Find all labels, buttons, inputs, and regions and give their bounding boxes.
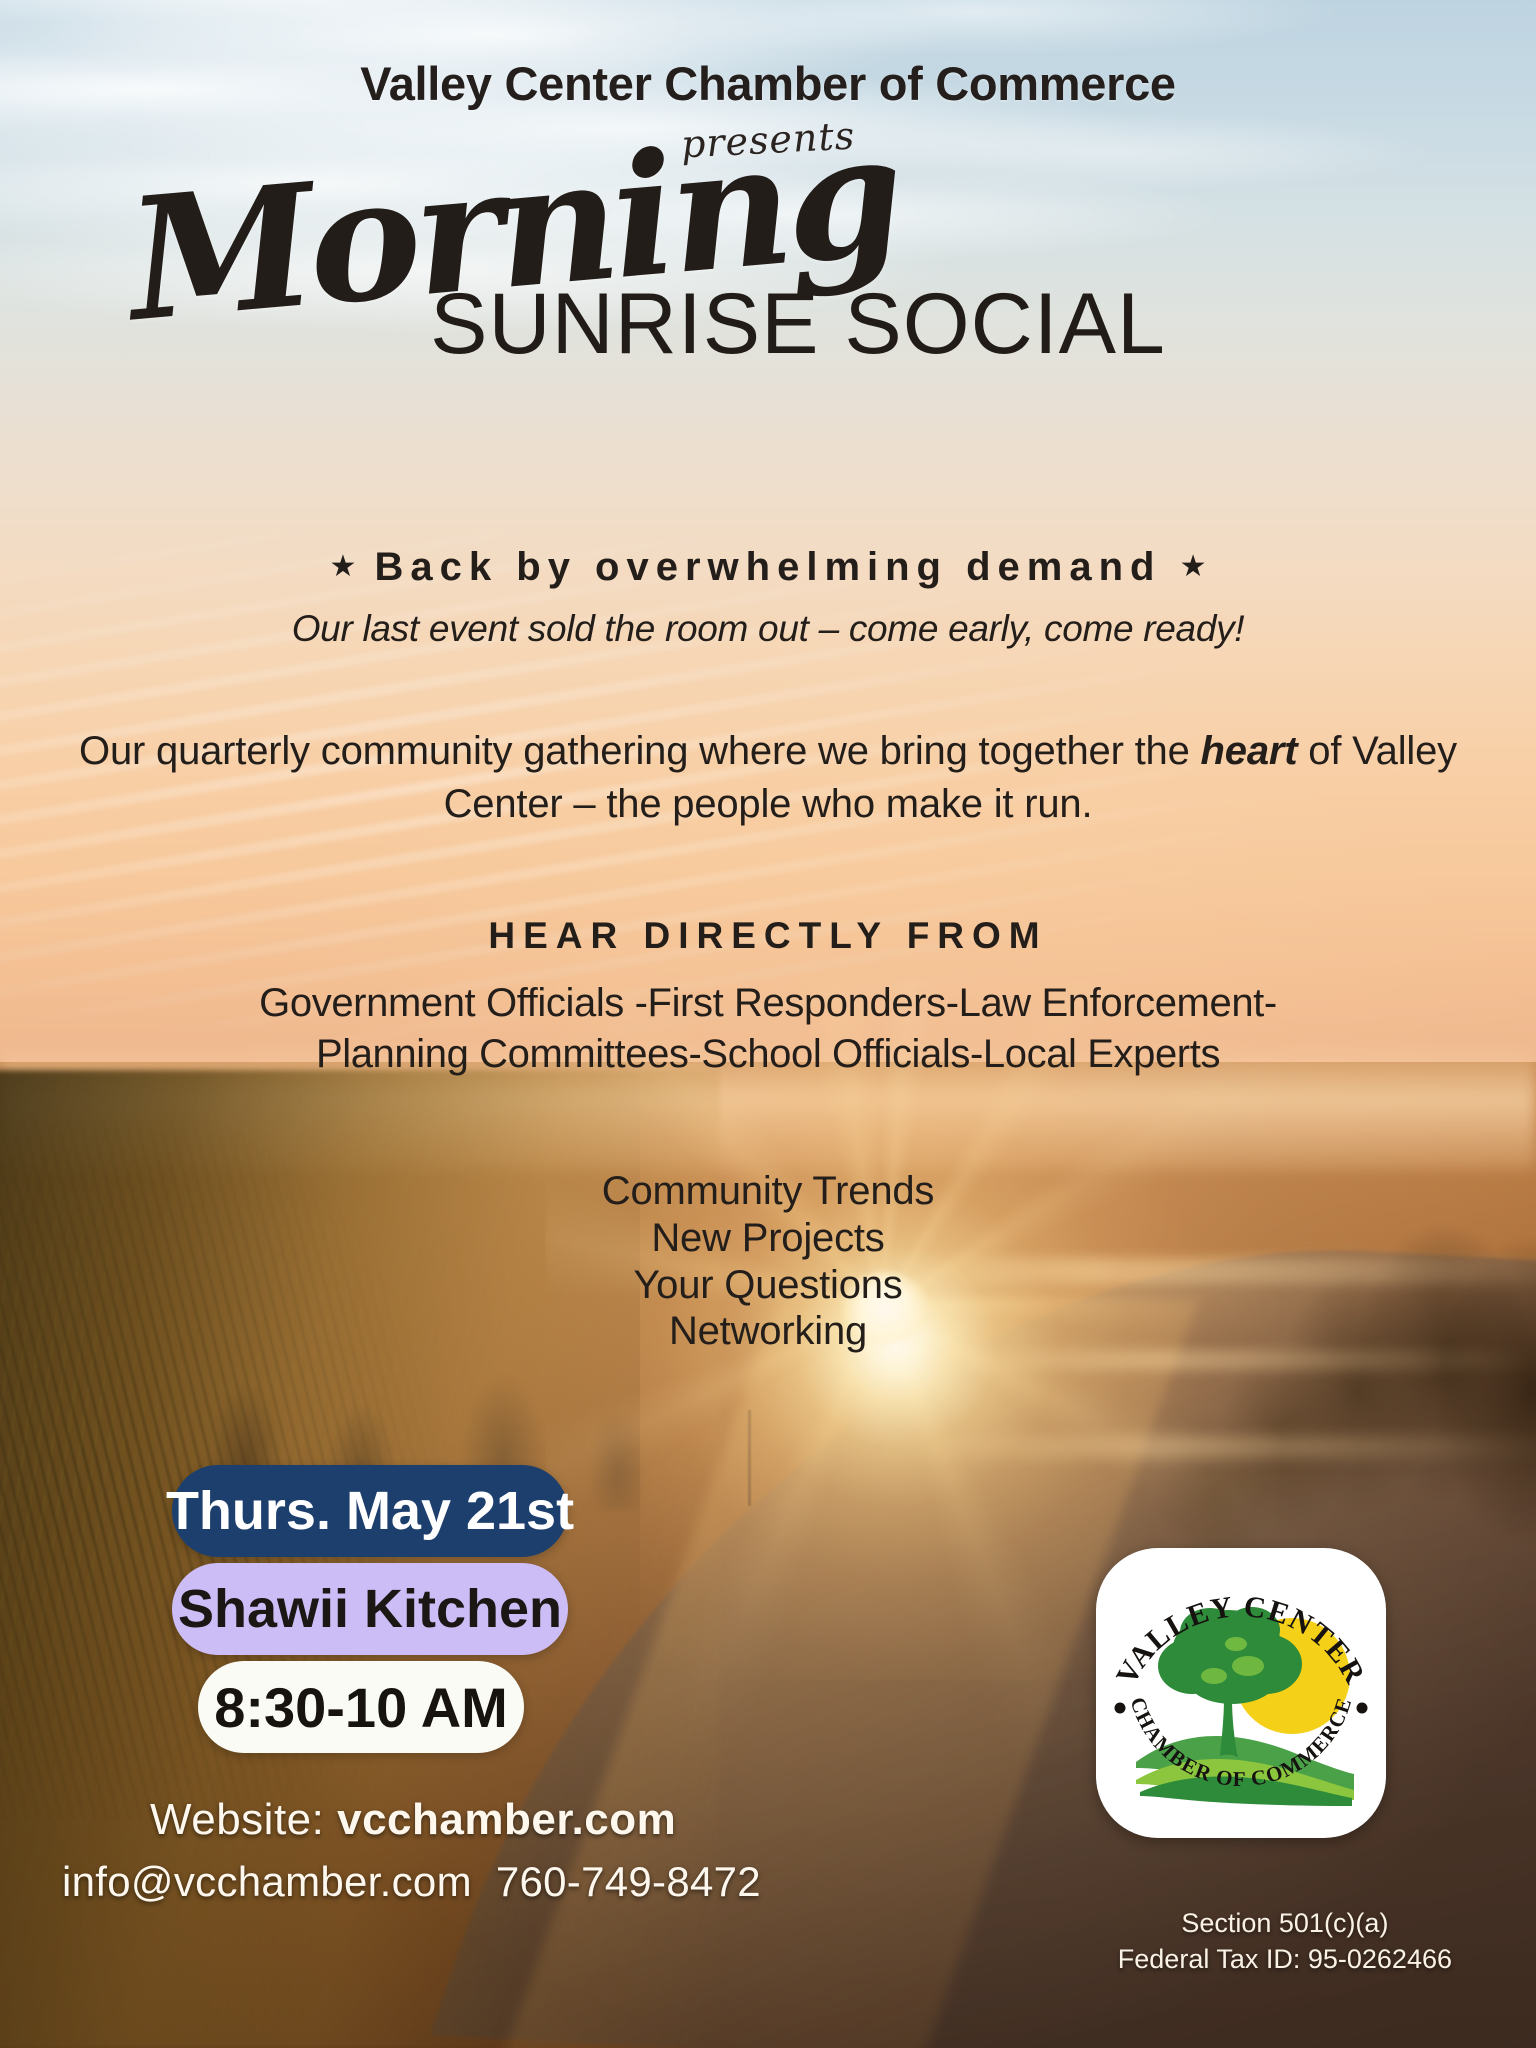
description-part-1: Our quarterly community gathering where …: [79, 729, 1201, 773]
website-line: Website: vcchamber.com: [150, 1795, 676, 1845]
star-icon-left: ★: [329, 550, 356, 583]
soldout-subheadline: Our last event sold the room out – come …: [0, 608, 1536, 650]
description-emphasis: heart: [1201, 729, 1298, 773]
star-icon-right: ★: [1180, 550, 1207, 583]
chamber-logo-badge: VALLEY CENTER CHAMBER OF COMMERCE: [1096, 1548, 1386, 1838]
demand-headline-text: Back by overwhelming demand: [375, 545, 1162, 589]
topic-item: Community Trends: [0, 1168, 1536, 1215]
flyer-canvas: Valley Center Chamber of Commerce presen…: [0, 0, 1536, 2048]
speaker-roles-line-2: Planning Committees-School Officials-Loc…: [40, 1029, 1496, 1080]
description-paragraph: Our quarterly community gathering where …: [70, 725, 1466, 831]
contact-email[interactable]: info@vcchamber.com: [62, 1858, 472, 1905]
topic-item: New Projects: [0, 1215, 1536, 1262]
topics-list: Community Trends New Projects Your Quest…: [0, 1168, 1536, 1355]
hear-directly-from-heading: HEAR DIRECTLY FROM: [0, 915, 1536, 957]
tax-id-line: Federal Tax ID: 95-0262466: [1118, 1941, 1452, 1977]
tax-status-info: Section 501(c)(a) Federal Tax ID: 95-026…: [1118, 1905, 1452, 1978]
logo-dot-right-icon: [1357, 1703, 1368, 1714]
demand-headline: ★ Back by overwhelming demand ★: [0, 545, 1536, 590]
topic-item: Your Questions: [0, 1262, 1536, 1309]
flyer-content: Valley Center Chamber of Commerce presen…: [0, 0, 1536, 2048]
logo-dot-left-icon: [1115, 1703, 1126, 1714]
event-time-pill: 8:30-10 AM: [198, 1661, 524, 1753]
event-venue-pill: Shawii Kitchen: [172, 1563, 568, 1655]
speaker-roles-line-1: Government Officials -First Responders-L…: [40, 978, 1496, 1029]
website-url[interactable]: vcchamber.com: [337, 1795, 676, 1844]
event-title-block: SUNRISE SOCIAL: [0, 275, 1536, 374]
topic-item: Networking: [0, 1308, 1536, 1355]
speaker-roles-list: Government Officials -First Responders-L…: [40, 978, 1496, 1080]
website-label: Website:: [150, 1795, 324, 1844]
event-date-pill: Thurs. May 21st: [172, 1465, 568, 1557]
tax-section-line: Section 501(c)(a): [1118, 1905, 1452, 1941]
contact-phone[interactable]: 760-749-8472: [496, 1858, 761, 1905]
logo-tree-trunk-icon: [1220, 1698, 1238, 1758]
contact-line: info@vcchamber.com 760-749-8472: [62, 1858, 761, 1906]
